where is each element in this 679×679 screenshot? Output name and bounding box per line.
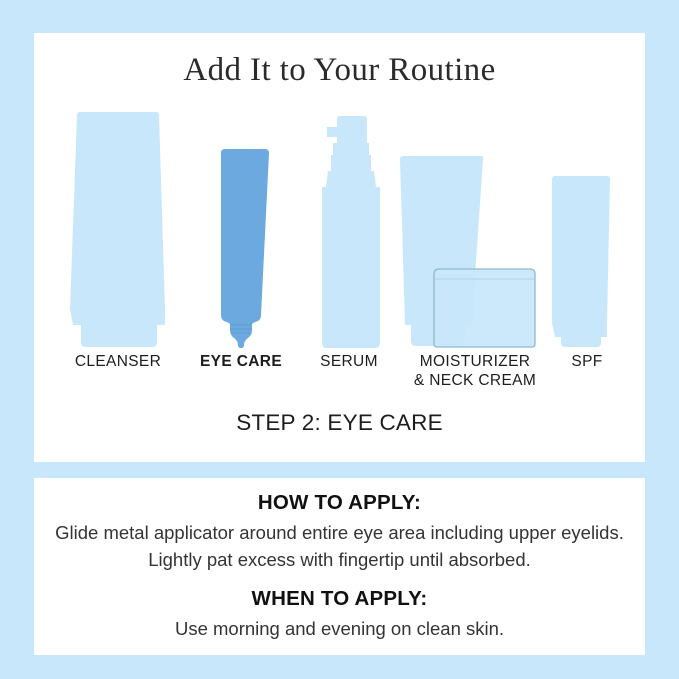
how-to-apply-body: Glide metal applicator around entire eye… [50,519,630,573]
label-serum: SERUM [296,352,402,371]
serum-pump-bottle-icon [319,115,381,350]
product-eye-care [207,147,279,350]
product-moisturizer [397,155,540,350]
instructions-content: HOW TO APPLY: Glide metal applicator aro… [34,478,645,655]
moisturizer-tube-jar-icon [397,155,540,350]
label-eye-care: EYE CARE [182,352,300,371]
spf-tube-icon [545,175,617,350]
product-illustrations [48,100,631,350]
when-to-apply-heading: WHEN TO APPLY: [34,587,645,611]
label-cleanser: CLEANSER [48,352,188,371]
product-labels: CLEANSER EYE CARE SERUM MOISTURIZER & NE… [48,352,631,407]
eye-care-tube-icon [207,147,279,350]
infographic-root: Add It to Your Routine [0,0,679,679]
cleanser-tube-icon [66,111,170,350]
label-spf: SPF [544,352,630,371]
product-serum [319,115,381,350]
when-to-apply-body: Use morning and evening on clean skin. [50,615,630,642]
page-title: Add It to Your Routine [0,52,679,89]
how-to-apply-heading: HOW TO APPLY: [34,491,645,515]
product-cleanser [66,111,170,350]
product-spf [545,175,617,350]
current-step-title: STEP 2: EYE CARE [0,410,679,436]
label-moisturizer: MOISTURIZER & NECK CREAM [394,352,556,390]
